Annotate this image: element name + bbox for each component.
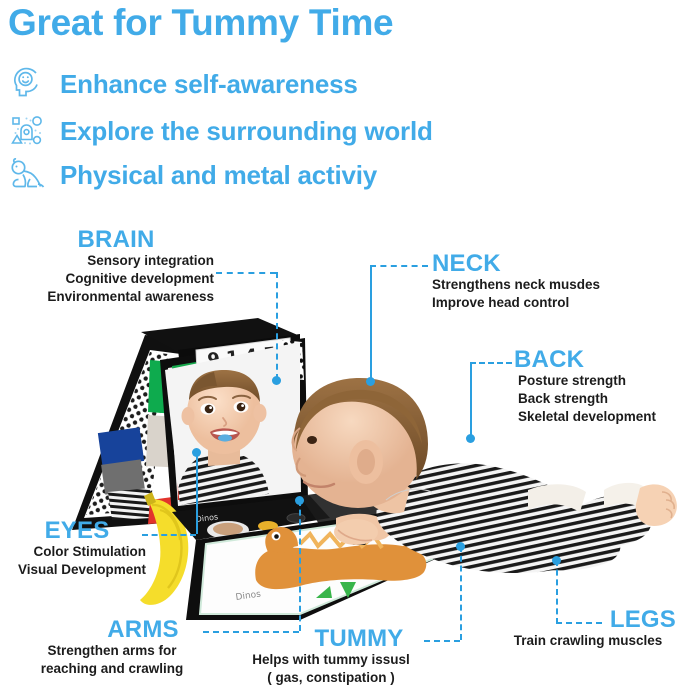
callout-line: Environmental awareness [0, 288, 214, 306]
benefit-row-self-awareness: Enhance self-awareness [6, 64, 358, 104]
callout-heading-arms: ARMS [22, 618, 202, 642]
benefit-row-explore-world: Explore the surrounding world [6, 111, 433, 151]
benefit-label-explore-world: Explore the surrounding world [60, 116, 433, 147]
callout-line: Strengthens neck musdes [432, 276, 600, 294]
callout-line: ( gas, constipation ) [238, 669, 424, 687]
callout-line: Sensory integration [0, 252, 214, 270]
callout-heading-back: BACK [514, 348, 656, 372]
callout-heading-eyes: EYES [0, 519, 148, 543]
page-title: Great for Tummy Time [8, 2, 393, 44]
callout-tummy: TUMMY Helps with tummy issusl ( gas, con… [238, 627, 424, 687]
callout-heading-legs: LEGS [500, 608, 676, 632]
callout-back: BACK Posture strength Back strength Skel… [514, 348, 656, 425]
callout-heading-brain: BRAIN [0, 228, 214, 252]
callout-line: Train crawling muscles [500, 632, 676, 650]
callout-line: Visual Development [0, 561, 148, 579]
infographic-canvas: Great for Tummy Time Enhance self-awaren… [0, 0, 679, 699]
callout-line: Posture strength [514, 372, 656, 390]
callout-eyes: EYES Color Stimulation Visual Developmen… [0, 519, 148, 579]
benefit-label-self-awareness: Enhance self-awareness [60, 69, 358, 100]
head-smiley-icon [6, 64, 48, 104]
callout-line: Improve head control [432, 294, 600, 312]
callout-line: Helps with tummy issusl [238, 651, 424, 669]
benefit-label-physical-activity: Physical and metal activiy [60, 160, 377, 191]
callout-line: reaching and crawling [22, 660, 202, 678]
callout-line: Cognitive development [0, 270, 214, 288]
callout-heading-tummy: TUMMY [238, 627, 424, 651]
crawling-baby-icon [6, 155, 48, 195]
callout-neck: NECK Strengthens neck musdes Improve hea… [432, 252, 600, 312]
benefit-row-physical-activity: Physical and metal activiy [6, 155, 377, 195]
callout-arms: ARMS Strengthen arms for reaching and cr… [22, 618, 202, 678]
mirror-panel: 9 1 4 5 6 [160, 338, 310, 516]
callout-legs: LEGS Train crawling muscles [500, 608, 676, 650]
callout-line: Back strength [514, 390, 656, 408]
callout-brain: BRAIN Sensory integration Cognitive deve… [0, 228, 214, 305]
callout-line: Strengthen arms for [22, 642, 202, 660]
callout-line: Color Stimulation [0, 543, 148, 561]
discovery-shapes-icon [6, 111, 48, 151]
callout-line: Skeletal development [514, 408, 656, 426]
callout-heading-neck: NECK [432, 252, 600, 276]
